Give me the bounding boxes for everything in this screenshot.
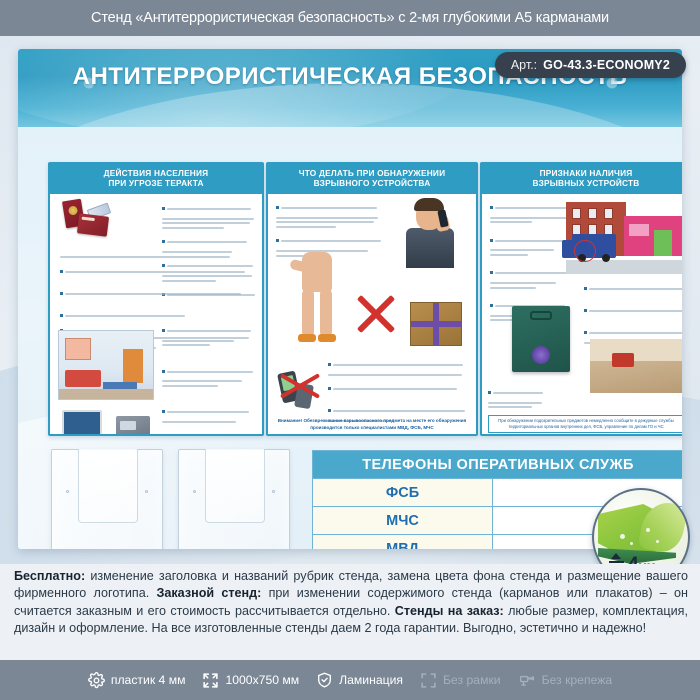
thickness-value: 4мм — [628, 554, 655, 564]
shield-check-icon — [316, 671, 333, 689]
table-cell-label: МВД — [313, 535, 493, 549]
walking-person-illustration — [284, 252, 354, 352]
feature-size-label: 1000x750 мм — [225, 673, 299, 687]
poster-3-bullets-right — [584, 280, 682, 348]
no-phones-illustration — [278, 370, 324, 412]
poster-1-bullets-right — [162, 322, 258, 427]
page-title: Стенд «Антитеррористическая безопасность… — [91, 10, 609, 26]
feature-frame-label: Без рамки — [443, 673, 501, 687]
radio-illustration — [116, 416, 150, 436]
resize-icon — [202, 672, 219, 689]
article-badge-code: GO-43.3-ECONOMY2 — [543, 58, 670, 72]
poster-3-note-text: При обнаружении подозрительных предметов… — [488, 415, 682, 433]
poster-1-title-line2: ПРИ УГРОЗЕ ТЕРАКТА — [52, 178, 260, 188]
man-with-phone-illustration — [392, 198, 468, 268]
information-stand: АНТИТЕРРОРИСТИЧЕСКАЯ БЕЗОПАСНОСТЬ ДЕЙСТВ… — [18, 49, 682, 549]
poster-signs-of-explosives: ПРИЗНАКИ НАЛИЧИЯ ВЗРЫВНЫХ УСТРОЙСТВ — [480, 162, 682, 436]
poster-3-title-line2: ВЗРЫВНЫХ УСТРОЙСТВ — [484, 178, 682, 188]
table-cell-label: МЧС — [313, 507, 493, 534]
poster-2-title-line1: ЧТО ДЕЛАТЬ ПРИ ОБНАРУЖЕНИИ — [270, 168, 474, 178]
poster-1-body — [50, 194, 262, 436]
feature-lamination: Ламинация — [316, 671, 403, 689]
emergency-phones-table-header: ТЕЛЕФОНЫ ОПЕРАТИВНЫХ СЛУЖБ — [313, 451, 682, 478]
poster-explosive-device-found: ЧТО ДЕЛАТЬ ПРИ ОБНАРУЖЕНИИ ВЗРЫВНОГО УСТ… — [266, 162, 478, 436]
poster-3-title-line1: ПРИЗНАКИ НАЛИЧИЯ — [484, 168, 682, 178]
feature-material: пластик 4 мм — [88, 672, 186, 689]
feature-mounting: Без крепежа — [518, 672, 613, 689]
poster-2-body: Внимание! Обезвреживание взрывоопасного … — [268, 194, 476, 436]
poster-2-header: ЧТО ДЕЛАТЬ ПРИ ОБНАРУЖЕНИИ ВЗРЫВНОГО УСТ… — [268, 164, 476, 194]
frame-corners-icon — [420, 672, 437, 689]
poster-2-bullets-bottom — [328, 356, 472, 426]
poster-3-bullets-bottom — [488, 384, 548, 413]
documents-illustration — [58, 200, 116, 244]
tv-illustration — [62, 410, 106, 436]
page-header-bar: Стенд «Антитеррористическая безопасность… — [0, 0, 700, 36]
poster-3-body: При обнаружении подозрительных предметов… — [482, 194, 682, 436]
suspicious-box-illustration — [410, 302, 462, 346]
abandoned-bag-illustration — [512, 306, 570, 372]
table-cell-label: ФСБ — [313, 479, 493, 506]
feature-size: 1000x750 мм — [202, 672, 299, 689]
gear-icon — [88, 672, 105, 689]
description-label-custom: Заказной стенд: — [156, 586, 261, 600]
poster-actions-under-threat: ДЕЙСТВИЯ НАСЕЛЕНИЯ ПРИ УГРОЗЕ ТЕРАКТА — [48, 162, 264, 436]
a5-pocket-2[interactable] — [178, 449, 290, 549]
poster-3-header: ПРИЗНАКИ НАЛИЧИЯ ВЗРЫВНЫХ УСТРОЙСТВ — [482, 164, 682, 194]
poster-2-title-line2: ВЗРЫВНОГО УСТРОЙСТВА — [270, 178, 474, 188]
feature-lamination-label: Ламинация — [339, 673, 403, 687]
features-bar: пластик 4 мм 1000x750 мм Ламинация — [0, 660, 700, 700]
poster-2-warning-text: Внимание! Обезвреживание взрывоопасного … — [274, 418, 470, 432]
description-label-free: Бесплатно: — [14, 569, 85, 583]
product-card-page: Стенд «Антитеррористическая безопасность… — [0, 0, 700, 700]
poster-1-header: ДЕЙСТВИЯ НАСЕЛЕНИЯ ПРИ УГРОЗЕ ТЕРАКТА — [50, 164, 262, 194]
feature-frame: Без рамки — [420, 672, 501, 689]
drill-icon — [518, 672, 536, 689]
article-badge-prefix: Арт.: — [511, 58, 537, 72]
description-label-order: Стенды на заказ: — [395, 604, 504, 618]
product-image-area: АНТИТЕРРОРИСТИЧЕСКАЯ БЕЗОПАСНОСТЬ ДЕЙСТВ… — [0, 36, 700, 564]
ceiling-device-illustration — [590, 339, 682, 393]
street-scene-illustration — [566, 202, 682, 274]
prohibition-cross-icon — [352, 290, 400, 338]
poster-1-title-line1: ДЕЙСТВИЯ НАСЕЛЕНИЯ — [52, 168, 260, 178]
a5-pocket-1[interactable] — [51, 449, 163, 549]
product-description: Бесплатно: изменение заголовка и названи… — [14, 568, 688, 638]
room-illustration — [58, 330, 154, 400]
article-badge: Арт.: GO-43.3-ECONOMY2 — [495, 52, 686, 78]
feature-material-label: пластик 4 мм — [111, 673, 186, 687]
feature-mounting-label: Без крепежа — [542, 673, 613, 687]
